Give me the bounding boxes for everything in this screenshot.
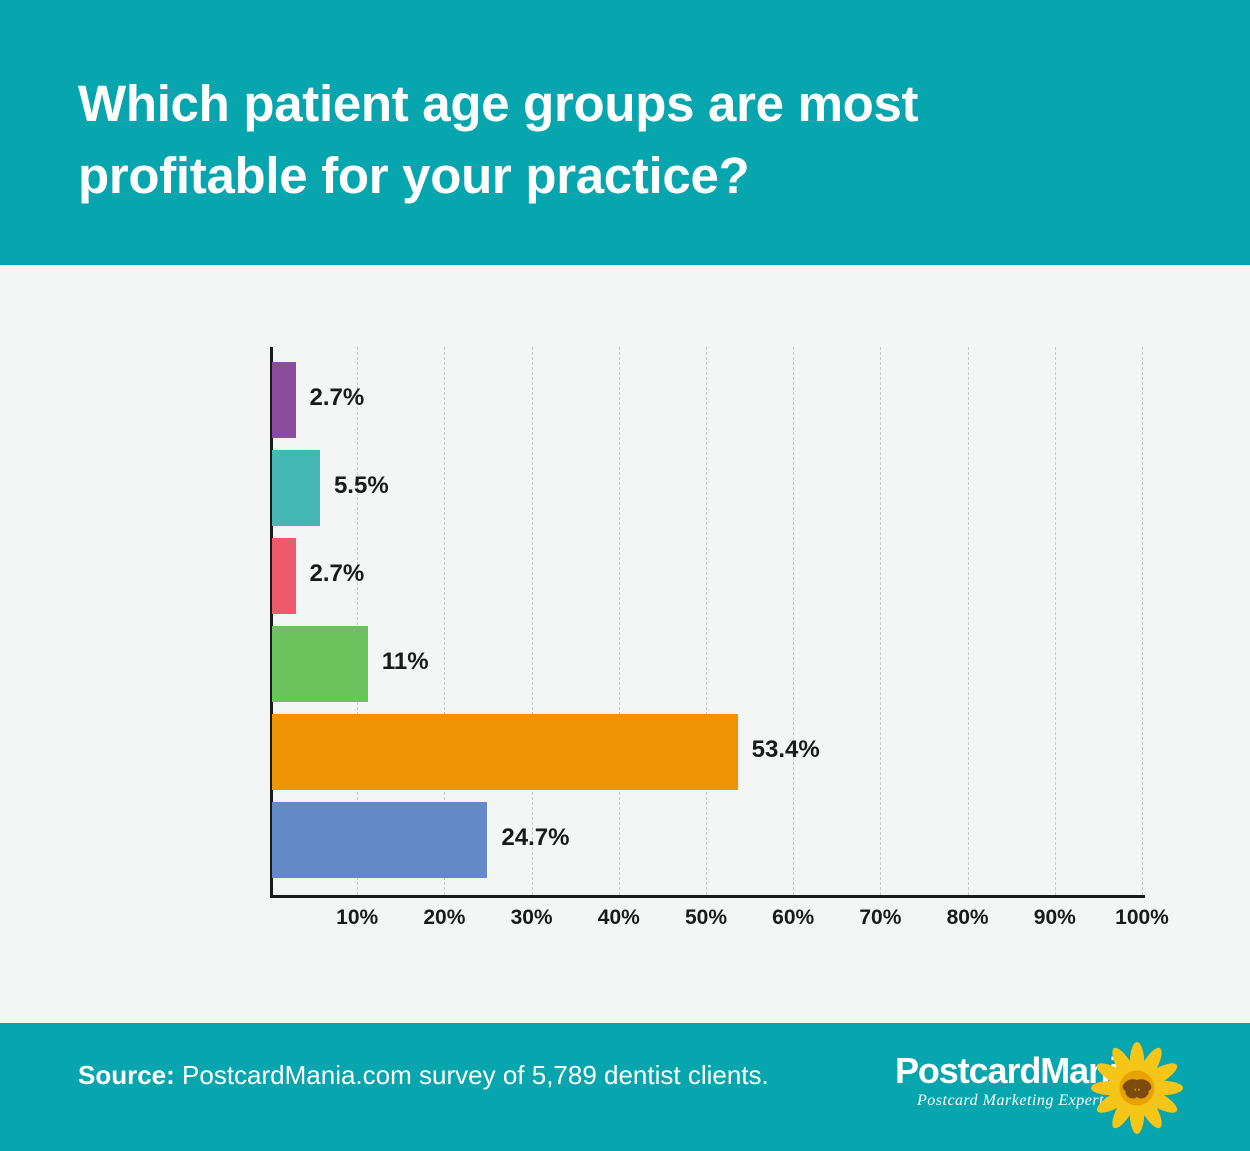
bar-value-41-60: 53.4%	[752, 736, 820, 764]
gridline-90%	[1055, 347, 1056, 895]
x-tick-100%: 100%	[1115, 906, 1169, 930]
gridline-50%	[706, 347, 707, 895]
header-banner: Which patient age groups are most profit…	[0, 0, 1250, 265]
postcardmania-logo[interactable]: PostcardMania Postcard Marketing Experts	[895, 1048, 1175, 1126]
gridline-60%	[793, 347, 794, 895]
bar-value-60-: 24.7%	[501, 824, 569, 852]
x-tick-60%: 60%	[772, 906, 814, 930]
x-tick-90%: 90%	[1034, 906, 1076, 930]
x-tick-30%: 30%	[511, 906, 553, 930]
gridline-30%	[532, 347, 533, 895]
infographic-page: Which patient age groups are most profit…	[0, 0, 1250, 1151]
bar-value-children: 5.5%	[334, 472, 389, 500]
logo-tagline: Postcard Marketing Experts	[917, 1092, 1111, 1110]
bar-value-18-25: 2.7%	[310, 560, 365, 588]
gridline-100%	[1142, 347, 1143, 895]
x-axis-line	[270, 895, 1145, 898]
source-note: Source: PostcardMania.com survey of 5,78…	[78, 1060, 769, 1091]
x-tick-20%: 20%	[423, 906, 465, 930]
source-label: Source:	[78, 1060, 175, 1090]
bar-60-[interactable]	[272, 802, 487, 878]
bar-unknown[interactable]	[272, 362, 296, 438]
bar-18-25[interactable]	[272, 538, 296, 614]
source-description: PostcardMania.com survey of 5,789 dentis…	[175, 1060, 769, 1090]
gridline-80%	[968, 347, 969, 895]
x-tick-10%: 10%	[336, 906, 378, 930]
bar-value-26-40: 11%	[382, 648, 429, 676]
page-title: Which patient age groups are most profit…	[78, 68, 1108, 213]
chart-container: 10%20%30%40%50%60%70%80%90%100% Unknown2…	[0, 265, 1250, 1023]
sunflower-icon	[1091, 1042, 1183, 1134]
bar-children[interactable]	[272, 450, 320, 526]
x-tick-50%: 50%	[685, 906, 727, 930]
gridline-70%	[880, 347, 881, 895]
bar-value-unknown: 2.7%	[310, 384, 365, 412]
gridline-40%	[619, 347, 620, 895]
bar-41-60[interactable]	[272, 714, 738, 790]
bar-26-40[interactable]	[272, 626, 368, 702]
x-tick-40%: 40%	[598, 906, 640, 930]
x-tick-80%: 80%	[947, 906, 989, 930]
x-tick-70%: 70%	[859, 906, 901, 930]
